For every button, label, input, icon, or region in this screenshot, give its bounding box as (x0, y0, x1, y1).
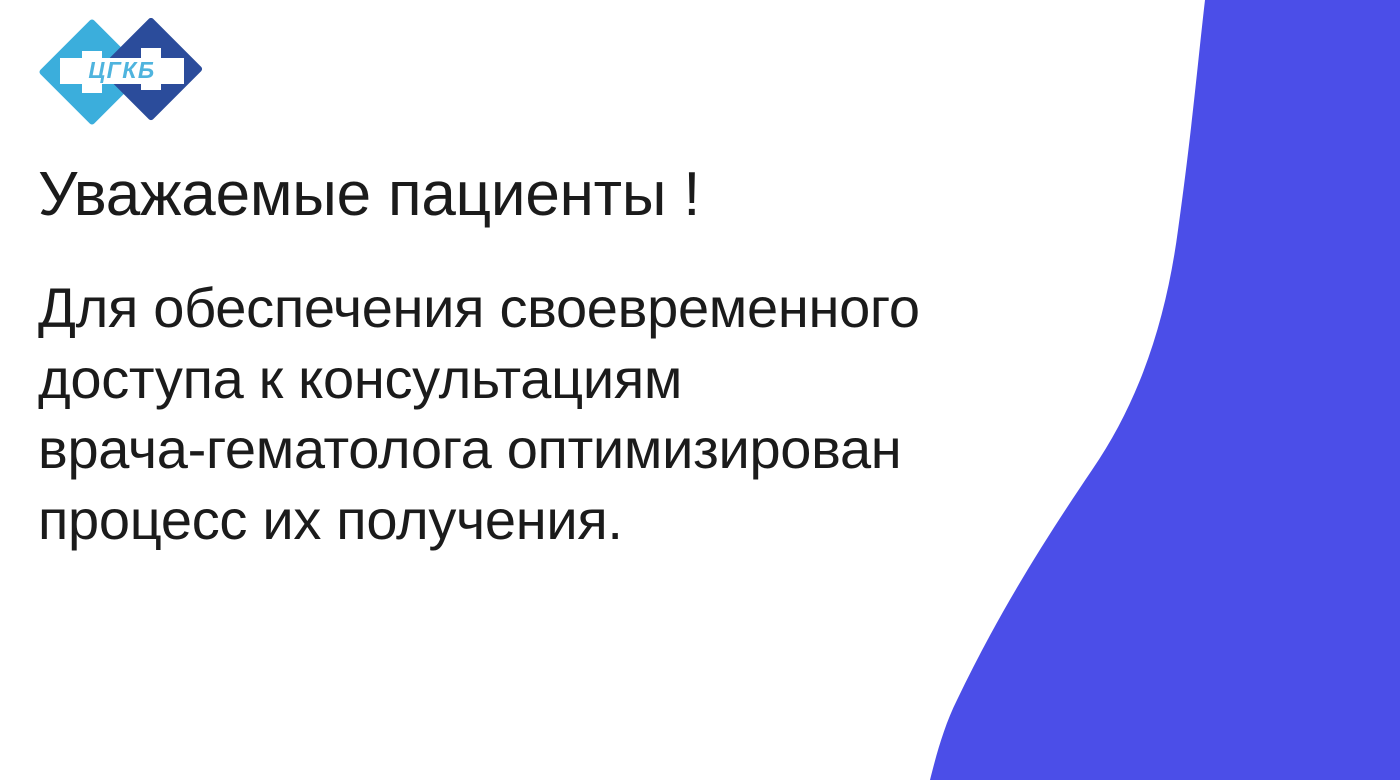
announcement-slide: ЦГКБ Уважаемые пациенты ! Для обеспечени… (0, 0, 1400, 780)
body-line: процесс их получения. (38, 485, 1048, 556)
page-title: Уважаемые пациенты ! (38, 162, 1048, 229)
logo-abbreviation: ЦГКБ (88, 57, 155, 83)
body-line: Для обеспечения своевременного (38, 273, 1048, 344)
hospital-logo: ЦГКБ (38, 18, 206, 130)
body-line: врача-гематолога оптимизирован (38, 414, 1048, 485)
body-paragraph: Для обеспечения своевременного доступа к… (38, 273, 1048, 555)
text-content: Уважаемые пациенты ! Для обеспечения сво… (38, 162, 1048, 555)
body-line: доступа к консультациям (38, 344, 1048, 415)
